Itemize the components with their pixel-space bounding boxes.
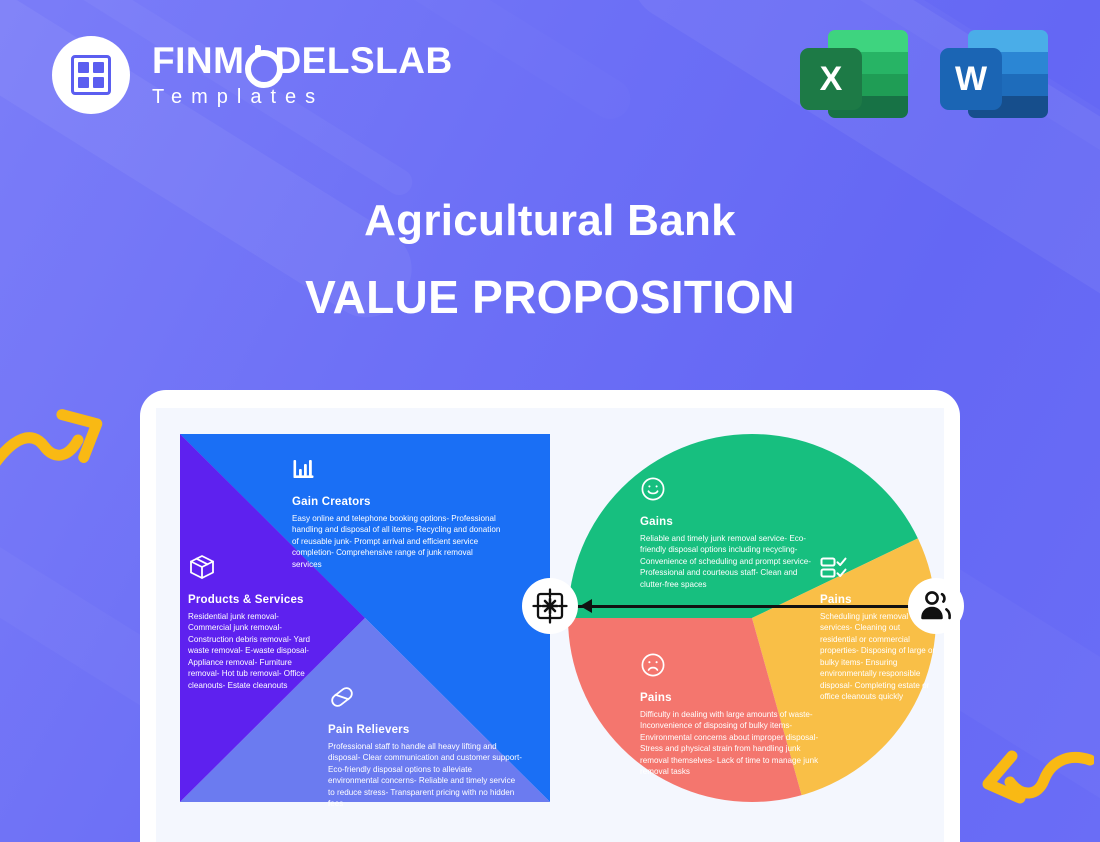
pains-title: Pains — [640, 692, 820, 704]
logo-o-ring-icon — [244, 47, 274, 77]
grid-squares-icon — [52, 36, 130, 114]
brand-tagline: Templates — [152, 86, 453, 109]
products-services-title: Products & Services — [188, 594, 318, 606]
capsule-pill-icon — [328, 684, 524, 715]
value-proposition-diagram: Gain Creators Easy online and telephone … — [170, 422, 930, 842]
gift-box-icon[interactable] — [522, 578, 578, 634]
pain-relievers-title: Pain Relievers — [328, 724, 524, 736]
gains-title: Gains — [640, 516, 816, 528]
page-title: Agricultural Bank — [0, 196, 1100, 246]
excel-icon[interactable]: X — [800, 30, 908, 118]
double-headed-arrow — [560, 605, 918, 608]
brand-text: FINMDELSLAB Templates — [152, 42, 453, 109]
file-format-icons: X W — [800, 30, 1048, 118]
device-mockup: Gain Creators Easy online and telephone … — [140, 390, 960, 842]
products-services-cell[interactable]: Products & Services Residential junk rem… — [188, 554, 318, 691]
brand-name-part1: FINM — [152, 40, 244, 81]
gains-cell[interactable]: Gains Reliable and timely junk removal s… — [640, 476, 816, 590]
gain-creators-body: Easy online and telephone booking option… — [292, 513, 502, 570]
package-box-icon — [188, 554, 318, 585]
brand-logo[interactable]: FINMDELSLAB Templates — [52, 36, 453, 114]
pain-relievers-body: Professional staff to handle all heavy l… — [328, 741, 524, 810]
brand-name-part2: DELSLAB — [274, 40, 452, 81]
squiggle-arrow-up-right-icon — [0, 408, 122, 483]
products-services-body: Residential junk removal- Commercial jun… — [188, 611, 318, 691]
bar-chart-icon — [292, 458, 502, 487]
gain-creators-cell[interactable]: Gain Creators Easy online and telephone … — [292, 458, 502, 570]
checklist-icon — [820, 556, 938, 585]
word-icon[interactable]: W — [940, 30, 1048, 118]
squiggle-arrow-down-left-icon — [962, 742, 1094, 827]
people-group-icon[interactable] — [908, 578, 964, 634]
gain-creators-title: Gain Creators — [292, 496, 502, 508]
gains-body: Reliable and timely junk removal service… — [640, 533, 816, 590]
customer-profile-circle[interactable]: Gains Reliable and timely junk removal s… — [568, 434, 936, 802]
word-letter: W — [940, 48, 1002, 110]
smiley-face-icon — [640, 476, 816, 507]
pains-cell[interactable]: Pains Difficulty in dealing with large a… — [640, 652, 820, 778]
excel-letter: X — [800, 48, 862, 110]
page-subtitle: VALUE PROPOSITION — [0, 270, 1100, 324]
page-title-block: Agricultural Bank VALUE PROPOSITION — [0, 196, 1100, 324]
sad-face-icon — [640, 652, 820, 683]
pains-body: Difficulty in dealing with large amounts… — [640, 709, 820, 778]
brand-name: FINMDELSLAB — [152, 42, 453, 79]
poster-canvas: FINMDELSLAB Templates X W Agricultural B… — [0, 0, 1100, 842]
value-map-square[interactable]: Gain Creators Easy online and telephone … — [180, 434, 550, 802]
slide-canvas: Gain Creators Easy online and telephone … — [156, 408, 944, 842]
pain-relievers-cell[interactable]: Pain Relievers Professional staff to han… — [328, 684, 524, 810]
